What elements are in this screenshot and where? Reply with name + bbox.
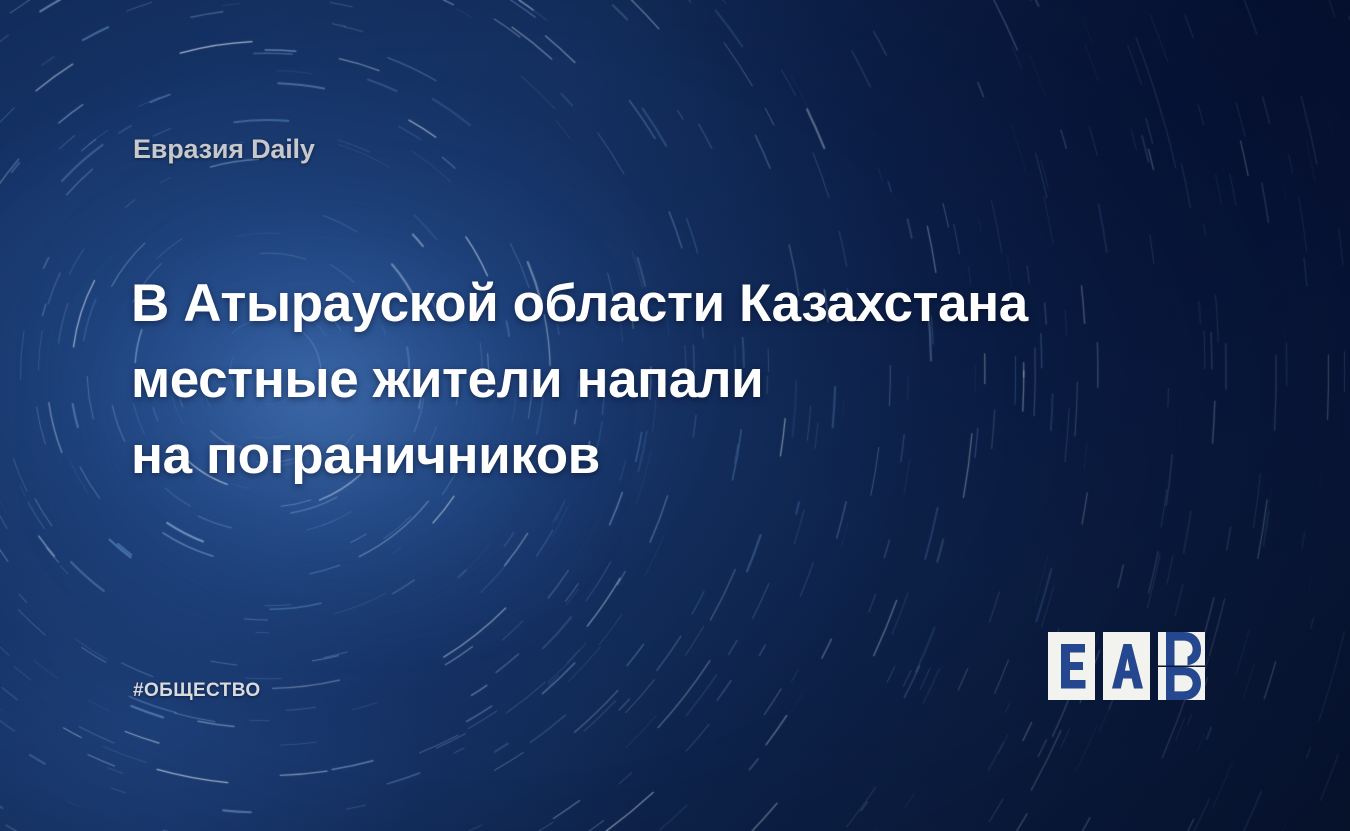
eadaily-logo[interactable]: [1048, 631, 1223, 701]
headline[interactable]: В Атырауской области Казахстана местные …: [131, 266, 1111, 494]
eadaily-logo-icon: [1048, 631, 1223, 701]
headline-line-2: местные жители напали: [131, 342, 1111, 418]
headline-line-1: В Атырауской области Казахстана: [131, 266, 1111, 342]
rubric-tag[interactable]: #ОБЩЕСТВО: [133, 681, 261, 700]
news-card: Евразия Daily В Атырауской области Казах…: [0, 0, 1350, 831]
brand-wordmark[interactable]: Евразия Daily: [133, 136, 315, 163]
headline-line-3: на пограничников: [131, 418, 1111, 494]
